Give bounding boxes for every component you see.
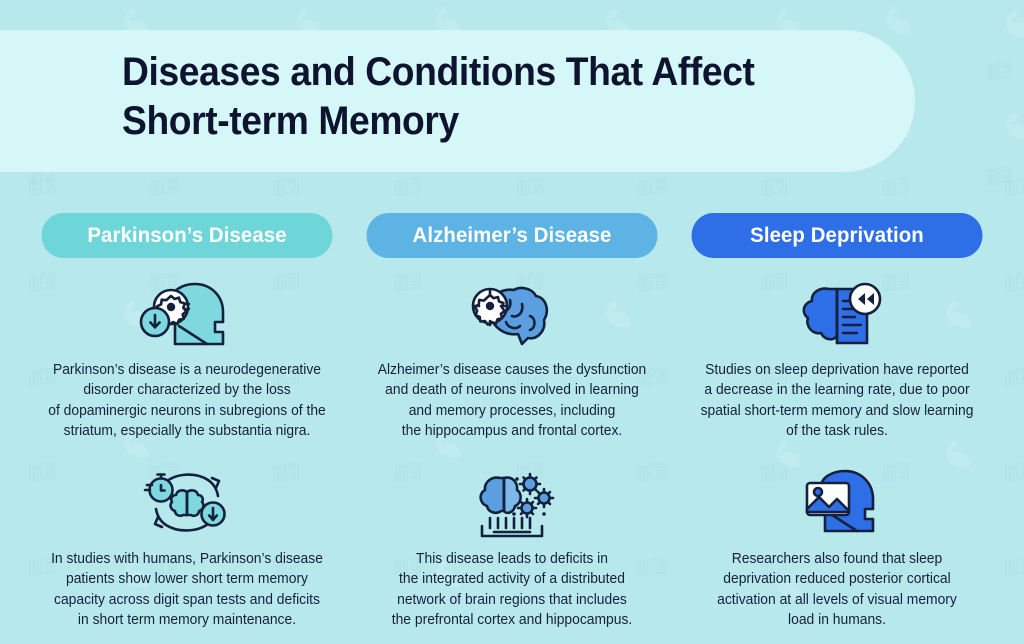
entry-text-sleep-deprivation-2: Researchers also found that sleep depriv… [687, 549, 988, 630]
heading-pill-alzheimers[interactable]: Alzheimer’s Disease [367, 213, 658, 258]
page-title: Diseases and Conditions That Affect Shor… [122, 48, 866, 146]
logo-watermark-icon [394, 176, 422, 196]
column-alzheimers: Alzheimer’s Disease [362, 213, 662, 630]
leaf-icon [1000, 10, 1024, 40]
logo-watermark-icon [882, 176, 910, 196]
logo-watermark-icon [985, 60, 1013, 80]
leaf-icon [1000, 112, 1024, 142]
logo-watermark-icon [150, 176, 178, 196]
entry-sleep-deprivation-1: Studies on sleep deprivation have report… [687, 258, 987, 441]
entry-text-parkinsons-2: In studies with humans, Parkinson’s dise… [42, 549, 333, 630]
logo-watermark-icon [638, 176, 666, 196]
brain-cycle-stopwatch-down-arrow-icon [134, 467, 240, 539]
head-profile-image-icon [785, 467, 889, 539]
logo-watermark-icon [760, 176, 788, 196]
entry-text-parkinsons-1: Parkinson’s disease is a neurodegenerati… [42, 360, 333, 441]
logo-watermark-icon [516, 176, 544, 196]
entry-parkinsons-1: Parkinson’s disease is a neurodegenerati… [37, 258, 337, 441]
heading-pill-parkinsons[interactable]: Parkinson’s Disease [42, 213, 333, 258]
brain-document-rewind-icon [785, 280, 889, 352]
heading-pill-sleep-deprivation[interactable]: Sleep Deprivation [692, 213, 983, 258]
brain-magnifier-neuron-icon [460, 280, 564, 352]
entry-text-alzheimers-1: Alzheimer’s disease causes the dysfuncti… [367, 360, 658, 441]
column-parkinsons: Parkinson’s Disease Parkinson’ [37, 213, 337, 630]
entry-text-alzheimers-2: This disease leads to deficits in the in… [367, 549, 658, 630]
column-sleep-deprivation: Sleep Deprivation Studies on sleep depri… [687, 213, 987, 630]
entry-alzheimers-1: Alzheimer’s disease causes the dysfuncti… [362, 258, 662, 441]
columns-container: Parkinson’s Disease Parkinson’ [0, 213, 1024, 630]
entry-sleep-deprivation-2: Researchers also found that sleep depriv… [687, 441, 987, 630]
brain-gears-network-icon [460, 467, 564, 539]
leaf-icon [880, 6, 914, 36]
entry-text-sleep-deprivation-1: Studies on sleep deprivation have report… [687, 360, 988, 441]
entry-alzheimers-2: This disease leads to deficits in the in… [362, 441, 662, 630]
logo-watermark-icon [985, 165, 1013, 185]
logo-watermark-icon [28, 176, 56, 196]
head-profile-gear-down-arrow-icon [135, 280, 239, 352]
logo-watermark-icon [1004, 176, 1024, 196]
entry-parkinsons-2: In studies with humans, Parkinson’s dise… [37, 441, 337, 630]
logo-watermark-icon [272, 176, 300, 196]
